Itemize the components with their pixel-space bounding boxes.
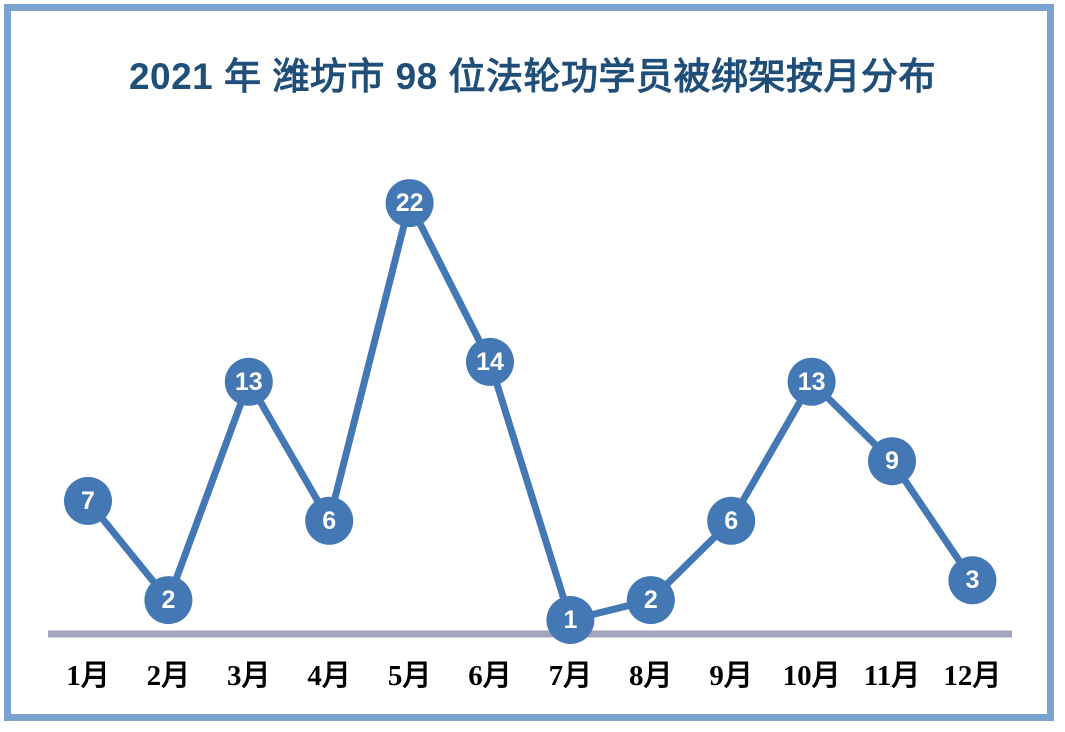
data-point-9月[interactable] xyxy=(707,497,755,545)
chart-page: 2021 年 潍坊市 98 位法轮功学员被绑架按月分布 721362214126… xyxy=(0,0,1065,732)
data-point-3月[interactable] xyxy=(225,358,273,406)
category-axis-labels: 1月2月3月4月5月6月7月8月9月10月11月12月 xyxy=(0,652,1065,702)
data-point-4月[interactable] xyxy=(305,497,353,545)
category-axis-label-12: 12月 xyxy=(922,652,1022,694)
chart-title: 2021 年 潍坊市 98 位法轮功学员被绑架按月分布 xyxy=(0,55,1065,99)
data-point-1月[interactable] xyxy=(64,477,112,525)
data-point-11月[interactable] xyxy=(868,437,916,485)
data-point-6月[interactable] xyxy=(466,338,514,386)
data-point-10月[interactable] xyxy=(788,358,836,406)
data-point-8月[interactable] xyxy=(627,576,675,624)
data-point-5月[interactable] xyxy=(386,179,434,227)
